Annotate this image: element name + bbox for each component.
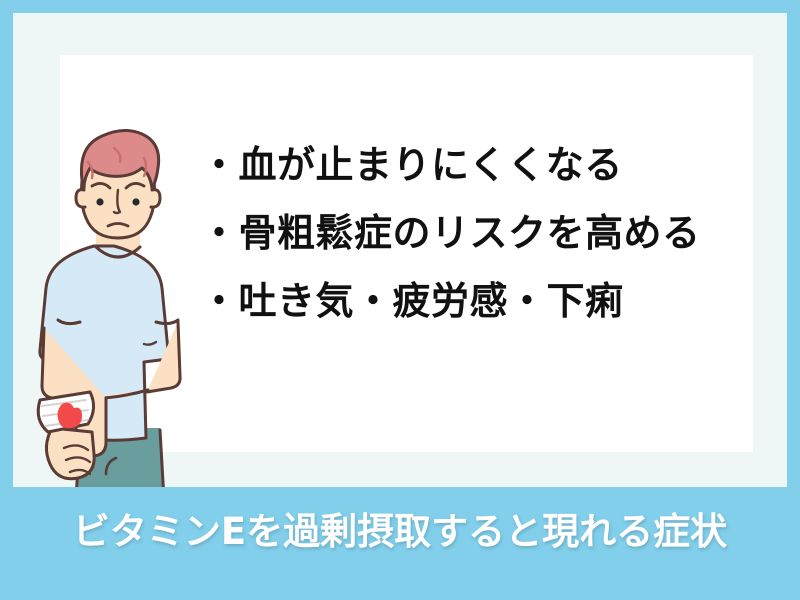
- bullet-item-2: ・骨粗鬆症のリスクを高める: [200, 214, 760, 252]
- bullet-item-1: ・血が止まりにくくなる: [200, 146, 760, 184]
- slide-canvas: ・血が止まりにくくなる ・骨粗鬆症のリスクを高める ・吐き気・疲労感・下痢 ビタ…: [0, 0, 800, 600]
- bandage-graphic: [38, 392, 93, 432]
- illustration-worried-man: [18, 128, 218, 500]
- caption-title: ビタミンEを過剰摂取すると現れる症状: [0, 501, 800, 555]
- caption-band: ビタミンEを過剰摂取すると現れる症状: [0, 487, 800, 600]
- bullet-item-3: ・吐き気・疲労感・下痢: [200, 282, 760, 320]
- symptom-bullet-list: ・血が止まりにくくなる ・骨粗鬆症のリスクを高める ・吐き気・疲労感・下痢: [200, 146, 760, 320]
